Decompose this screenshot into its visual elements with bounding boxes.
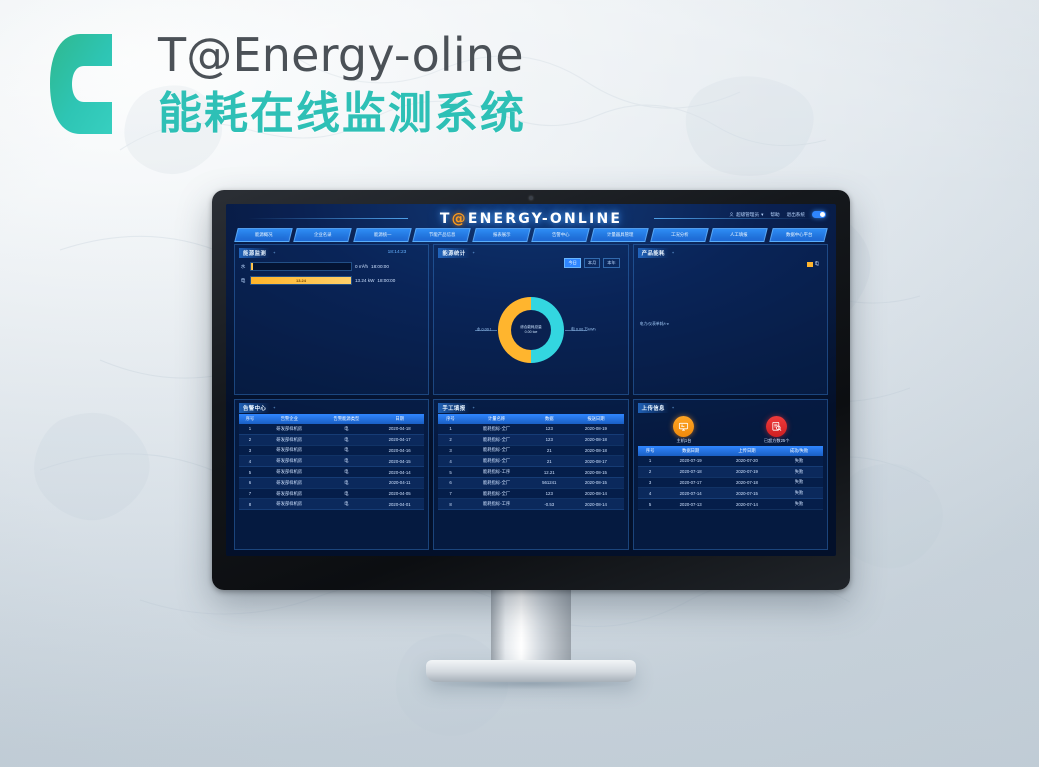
brand-title-en: T@Energy-oline	[158, 24, 526, 86]
cell: 1	[239, 424, 261, 434]
alarm-table: 序号 告警企业 告警能源类型 日期 1研发部样机房电2020-04-18 2研发…	[239, 414, 424, 510]
cell: 能耗指标-全厂	[463, 434, 531, 445]
cell: 21	[530, 456, 568, 467]
cell: 研发部样机房	[261, 445, 318, 456]
cell: 6	[239, 477, 261, 488]
donut-center-line2: 0.00 tce	[498, 330, 564, 335]
panel-title: 能源统计	[438, 248, 469, 258]
poster-canvas: T@Energy-oline 能耗在线监测系统 T@ENERGY-ONLINE	[0, 0, 1039, 767]
col-submit-date: 报送日期	[568, 414, 624, 424]
panel-title: 产品能耗	[638, 248, 669, 258]
help-menu-item[interactable]: 帮助	[770, 212, 779, 218]
table-header-row: 序号 告警企业 告警能源类型 日期	[239, 414, 424, 424]
cell: 2020-04-05	[375, 488, 424, 499]
dashboard-title-prefix: T	[440, 211, 452, 227]
corner-bl	[234, 387, 242, 395]
nav-tab-label: 数据中心平台	[785, 232, 811, 238]
status-badge: 失败	[775, 456, 823, 466]
col-status: 成功/失败	[775, 446, 823, 456]
cell: 2020-08-14	[568, 499, 624, 510]
nav-tab-label: 告警中心	[552, 232, 570, 238]
y-axis-label: 电力/仪表单耗/t·e	[640, 322, 669, 327]
upload-stats: 主机1台	[638, 416, 823, 444]
cell: 561241	[530, 477, 568, 488]
cell: 5	[239, 467, 261, 478]
panel-title: 上传信息	[638, 403, 669, 413]
cell: 电	[318, 499, 375, 510]
cell: 123	[530, 434, 568, 445]
nav-tab-label: 报表展示	[493, 232, 511, 238]
col-date: 日期	[375, 414, 424, 424]
mode-toggle-switch[interactable]	[812, 211, 826, 218]
nav-tab-6[interactable]: 计量器具管理	[591, 228, 650, 242]
panel-timestamp: 18:14:23	[388, 250, 425, 255]
table-row[interactable]: 4研发部样机房电2020-04-15	[239, 456, 424, 467]
cell: 5	[438, 467, 462, 478]
cell: 电	[318, 424, 375, 434]
table-row[interactable]: 1研发部样机房电2020-04-18	[239, 424, 424, 434]
cell: 能耗指标-全厂	[463, 456, 531, 467]
table-row[interactable]: 8能耗指标-工序-0.532020-08-14	[438, 499, 623, 510]
table-row[interactable]: 52020-07-132020-07-14失败	[638, 499, 823, 510]
table-row[interactable]: 6能耗指标-全厂5612412020-08-15	[438, 477, 623, 488]
corner-tr	[421, 244, 429, 252]
nav-tab-label: 节能产品信息	[429, 232, 455, 238]
energy-row-label: 电	[239, 278, 247, 284]
user-icon	[729, 212, 734, 217]
corner-bl	[633, 387, 641, 395]
brand-title-cn: 能耗在线监测系统	[158, 86, 526, 142]
energy-bar	[250, 262, 352, 271]
cell: 电	[318, 467, 375, 478]
panel-energy-monitor: 能源监测 + 18:14:23 水 0 m³/h 18:00:00	[234, 244, 429, 395]
cell: 4	[239, 456, 261, 467]
cell: 2020-07-15	[719, 488, 775, 499]
cell: 研发部样机房	[261, 477, 318, 488]
table-row[interactable]: 1能耗指标-全厂1232020-08-19	[438, 424, 623, 434]
table-row[interactable]: 5能耗指标-工序12.212020-08-15	[438, 467, 623, 478]
cell: 2020-04-14	[375, 467, 424, 478]
panel-upload-info: 上传信息 +	[633, 399, 828, 550]
nav-tab-label: 人工填报	[730, 232, 748, 238]
table-row[interactable]: 5研发部样机房电2020-04-14	[239, 467, 424, 478]
alarm-table-body: 1研发部样机房电2020-04-18 2研发部样机房电2020-04-17 3研…	[239, 424, 424, 510]
cell: 能耗指标-全厂	[463, 477, 531, 488]
col-value: 数据	[530, 414, 568, 424]
panel-more-icon[interactable]: +	[273, 405, 275, 410]
energy-row-value: 0 m³/h	[355, 264, 368, 269]
status-badge: 失败	[775, 488, 823, 499]
table-row[interactable]: 7研发部样机房电2020-04-05	[239, 488, 424, 499]
cell: 电	[318, 456, 375, 467]
cell: -0.53	[530, 499, 568, 510]
table-row[interactable]: 32020-07-172020-07-18失败	[638, 477, 823, 488]
report-glyph	[771, 421, 782, 432]
panel-header: 告警中心 +	[239, 403, 424, 412]
table-row[interactable]: 42020-07-142020-07-15失败	[638, 488, 823, 499]
table-row[interactable]: 22020-07-182020-07-19失败	[638, 466, 823, 477]
monitor-host-icon	[673, 416, 694, 437]
panel-title: 告警中心	[239, 403, 270, 413]
col-index: 序号	[638, 446, 663, 456]
energy-bar: 13.24	[250, 276, 352, 285]
status-badge: 失败	[775, 477, 823, 488]
panel-alarm-center: 告警中心 + 序号 告警企业 告警能源类型 日期 1研发部样机房电20	[234, 399, 429, 550]
cell: 电	[318, 445, 375, 456]
account-name: 超级管理员	[736, 212, 759, 218]
table-row[interactable]: 4能耗指标-全厂212020-08-17	[438, 456, 623, 467]
col-data-date: 数据日期	[663, 446, 719, 456]
cell: 2020-07-19	[663, 456, 719, 466]
table-header-row: 序号 计量名称 数据 报送日期	[438, 414, 623, 424]
energy-row-water: 水 0 m³/h 18:00:00	[239, 262, 424, 271]
col-index: 序号	[438, 414, 462, 424]
cell: 研发部样机房	[261, 499, 318, 510]
nav-tab-label: 计量器具管理	[607, 232, 633, 238]
cell: 2020-07-17	[663, 477, 719, 488]
logout-menu-item[interactable]: 退出系统	[787, 212, 805, 218]
cell: 2020-08-18	[568, 434, 624, 445]
cell: 2020-07-13	[663, 499, 719, 510]
donut-center-text: 综合能耗总量 0.00 tce	[498, 325, 564, 335]
cell: 8	[239, 499, 261, 510]
panel-product-energy: 产品能耗 + 电 电力/仪表单耗/t·e	[633, 244, 828, 395]
user-bar: 超级管理员 ▾ 帮助 退出系统	[729, 211, 826, 218]
table-header-row: 序号 数据日期 上传日期 成功/失败	[638, 446, 823, 456]
col-company: 告警企业	[261, 414, 318, 424]
corner-tr	[421, 399, 429, 407]
panel-more-icon[interactable]: +	[273, 250, 275, 255]
cell: 12.21	[530, 467, 568, 478]
nav-tab-4[interactable]: 报表展示	[472, 228, 531, 242]
chart-legend: 电	[807, 261, 819, 267]
col-upload-date: 上传日期	[719, 446, 775, 456]
cell: 能耗指标-全厂	[463, 488, 531, 499]
energy-row-value: 13.24 kW	[355, 278, 374, 283]
cell: 2020-04-01	[375, 499, 424, 510]
cell: 2020-04-15	[375, 456, 424, 467]
panel-manual-entry: 手工填报 + 序号 计量名称 数据 报送日期 1能耗指标-全厂1232	[433, 399, 628, 550]
panel-header: 能源监测 + 18:14:23	[239, 248, 424, 257]
manual-entry-table: 序号 计量名称 数据 报送日期 1能耗指标-全厂1232020-08-19 2能…	[438, 414, 623, 510]
cell: 1	[438, 424, 462, 434]
chevron-down-icon: ▾	[761, 212, 763, 218]
cell: 2020-08-19	[568, 424, 624, 434]
cell: 2020-04-17	[375, 434, 424, 445]
account-menu[interactable]: 超级管理员 ▾	[729, 212, 763, 218]
nav-tab-label: 企业名录	[314, 232, 332, 238]
corner-bl	[433, 542, 441, 550]
table-row[interactable]: 2研发部样机房电2020-04-17	[239, 434, 424, 445]
monitor-screen: T@ENERGY-ONLINE 超级管理员 ▾ 帮助 退出系统	[226, 204, 836, 556]
donut-chart-wrap: 水 0.00 t 综合能耗总量 0.00 tce 电 0.00 万kWh	[434, 267, 627, 392]
cell: 电	[318, 488, 375, 499]
dashboard-app: T@ENERGY-ONLINE 超级管理员 ▾ 帮助 退出系统	[226, 204, 836, 556]
cell: 2020-04-16	[375, 445, 424, 456]
corner-tr	[621, 244, 629, 252]
cell: 2020-07-18	[719, 477, 775, 488]
cell: 4	[638, 488, 663, 499]
legend-swatch-electric	[807, 262, 813, 267]
nav-tab-2[interactable]: 能源统一	[353, 228, 412, 242]
cell: 能耗指标-全厂	[463, 424, 531, 434]
cell: 2020-08-15	[568, 467, 624, 478]
cell: 研发部样机房	[261, 424, 318, 434]
cell: 2	[239, 434, 261, 445]
c-mark-logo-icon	[50, 30, 114, 138]
energy-bar-fill: 13.24	[251, 277, 351, 284]
cell: 2020-04-11	[375, 477, 424, 488]
status-badge: 失败	[775, 499, 823, 510]
cell: 能耗指标-全厂	[463, 445, 531, 456]
cell: 2020-08-15	[568, 477, 624, 488]
panel-more-icon[interactable]: +	[473, 250, 475, 255]
panel-more-icon[interactable]: +	[473, 405, 475, 410]
cell: 1	[638, 456, 663, 466]
cell: 电	[318, 434, 375, 445]
nav-tab-9[interactable]: 数据中心平台	[769, 228, 828, 242]
cell: 7	[438, 488, 462, 499]
cell: 2020-07-18	[663, 466, 719, 477]
report-search-icon	[766, 416, 787, 437]
cell: 2020-07-14	[719, 499, 775, 510]
nav-tab-1[interactable]: 企业名录	[294, 228, 353, 242]
cell: 2020-04-18	[375, 424, 424, 434]
cell: 研发部样机房	[261, 434, 318, 445]
energy-row-label: 水	[239, 264, 247, 270]
corner-tr	[820, 244, 828, 252]
manual-entry-table-body: 1能耗指标-全厂1232020-08-19 2能耗指标-全厂1232020-08…	[438, 424, 623, 510]
panel-header: 手工填报 +	[438, 403, 623, 412]
monitor-stand-base	[426, 660, 636, 682]
cell: 研发部样机房	[261, 456, 318, 467]
panel-header: 能源统计 +	[438, 248, 623, 257]
donut-label-right: 电 0.00 万kWh	[571, 327, 596, 332]
energy-row-time: 18:00:00	[371, 264, 389, 269]
panel-title: 手工填报	[438, 403, 469, 413]
cell: 3	[438, 445, 462, 456]
corner-tr	[820, 399, 828, 407]
cell: 123	[530, 488, 568, 499]
table-row[interactable]: 6研发部样机房电2020-04-11	[239, 477, 424, 488]
upload-stat-caption: 主机1台	[641, 438, 726, 444]
cell: 2020-07-19	[719, 466, 775, 477]
panel-header: 产品能耗 +	[638, 248, 823, 257]
upload-stat-host[interactable]: 主机1台	[641, 416, 726, 444]
cell: 4	[438, 456, 462, 467]
col-energy-type: 告警能源类型	[318, 414, 375, 424]
cell: 2020-08-14	[568, 488, 624, 499]
cell: 研发部样机房	[261, 488, 318, 499]
panel-grid: 能源监测 + 18:14:23 水 0 m³/h 18:00:00	[234, 244, 828, 550]
table-row[interactable]: 3研发部样机房电2020-04-16	[239, 445, 424, 456]
energy-bar-fill	[251, 263, 253, 270]
panel-more-icon[interactable]: +	[672, 250, 674, 255]
dashboard-title-suffix: ENERGY-ONLINE	[468, 211, 622, 227]
cell: 6	[438, 477, 462, 488]
webcam-icon	[529, 196, 533, 200]
panel-title: 能源监测	[239, 248, 270, 258]
upload-stat-overlimit[interactable]: 已超方数25个	[734, 416, 819, 444]
monitor-mockup: T@ENERGY-ONLINE 超级管理员 ▾ 帮助 退出系统	[212, 190, 850, 590]
donut-label-left: 水 0.00 t	[477, 327, 491, 332]
upload-stat-caption: 已超方数25个	[734, 438, 819, 444]
panel-header: 上传信息 +	[638, 403, 823, 412]
host-glyph	[678, 421, 689, 432]
corner-bl	[633, 542, 641, 550]
nav-tab-5[interactable]: 告警中心	[531, 228, 590, 242]
nav-tab-label: 能源概况	[255, 232, 273, 238]
cell: 123	[530, 424, 568, 434]
cell: 能耗指标-工序	[463, 499, 531, 510]
cell: 研发部样机房	[261, 467, 318, 478]
table-row[interactable]: 3能耗指标-全厂212020-08-18	[438, 445, 623, 456]
upload-table: 序号 数据日期 上传日期 成功/失败 12020-07-192020-07-20…	[638, 446, 823, 510]
nav-tab-0[interactable]: 能源概况	[234, 228, 293, 242]
col-index: 序号	[239, 414, 261, 424]
nav-tab-label: 能源统一	[374, 232, 392, 238]
energy-row-time: 18:00:00	[377, 278, 395, 283]
cell: 电	[318, 477, 375, 488]
cell: 5	[638, 499, 663, 510]
cell: 2020-07-14	[663, 488, 719, 499]
legend-label: 电	[815, 261, 819, 267]
main-nav: 能源概况 企业名录 能源统一 节能产品信息 报表展示 告警中心 计量器具管理 工…	[236, 228, 826, 241]
cell: 2020-08-17	[568, 456, 624, 467]
corner-tr	[621, 399, 629, 407]
table-row[interactable]: 12020-07-192020-07-20失败	[638, 456, 823, 466]
cell: 2020-08-18	[568, 445, 624, 456]
cell: 3	[239, 445, 261, 456]
upload-table-body: 12020-07-192020-07-20失败 22020-07-182020-…	[638, 456, 823, 509]
nav-tab-7[interactable]: 工况分析	[650, 228, 709, 242]
col-meter-name: 计量名称	[463, 414, 531, 424]
cell: 能耗指标-工序	[463, 467, 531, 478]
panel-more-icon[interactable]: +	[672, 405, 674, 410]
cell: 3	[638, 477, 663, 488]
cell: 7	[239, 488, 261, 499]
at-flame-icon: @	[452, 211, 468, 227]
corner-bl	[234, 542, 242, 550]
cell: 2	[438, 434, 462, 445]
nav-tab-3[interactable]: 节能产品信息	[412, 228, 471, 242]
cell: 8	[438, 499, 462, 510]
cell: 2020-07-20	[719, 456, 775, 466]
cell: 21	[530, 445, 568, 456]
nav-tab-label: 工况分析	[671, 232, 689, 238]
brand-block: T@Energy-oline 能耗在线监测系统	[50, 24, 590, 154]
table-row[interactable]: 2能耗指标-全厂1232020-08-18	[438, 434, 623, 445]
status-badge: 失败	[775, 466, 823, 477]
energy-row-electric: 电 13.24 13.24 kW 18:00:00	[239, 276, 424, 285]
monitor-stand-neck	[491, 578, 571, 668]
donut-chart[interactable]: 综合能耗总量 0.00 tce	[498, 297, 564, 363]
table-row[interactable]: 8研发部样机房电2020-04-01	[239, 499, 424, 510]
panel-energy-stats: 能源统计 + 今日 本月 本年 水 0.00 t	[433, 244, 628, 395]
cell: 2	[638, 466, 663, 477]
nav-tab-8[interactable]: 人工填报	[710, 228, 769, 242]
table-row[interactable]: 7能耗指标-全厂1232020-08-14	[438, 488, 623, 499]
